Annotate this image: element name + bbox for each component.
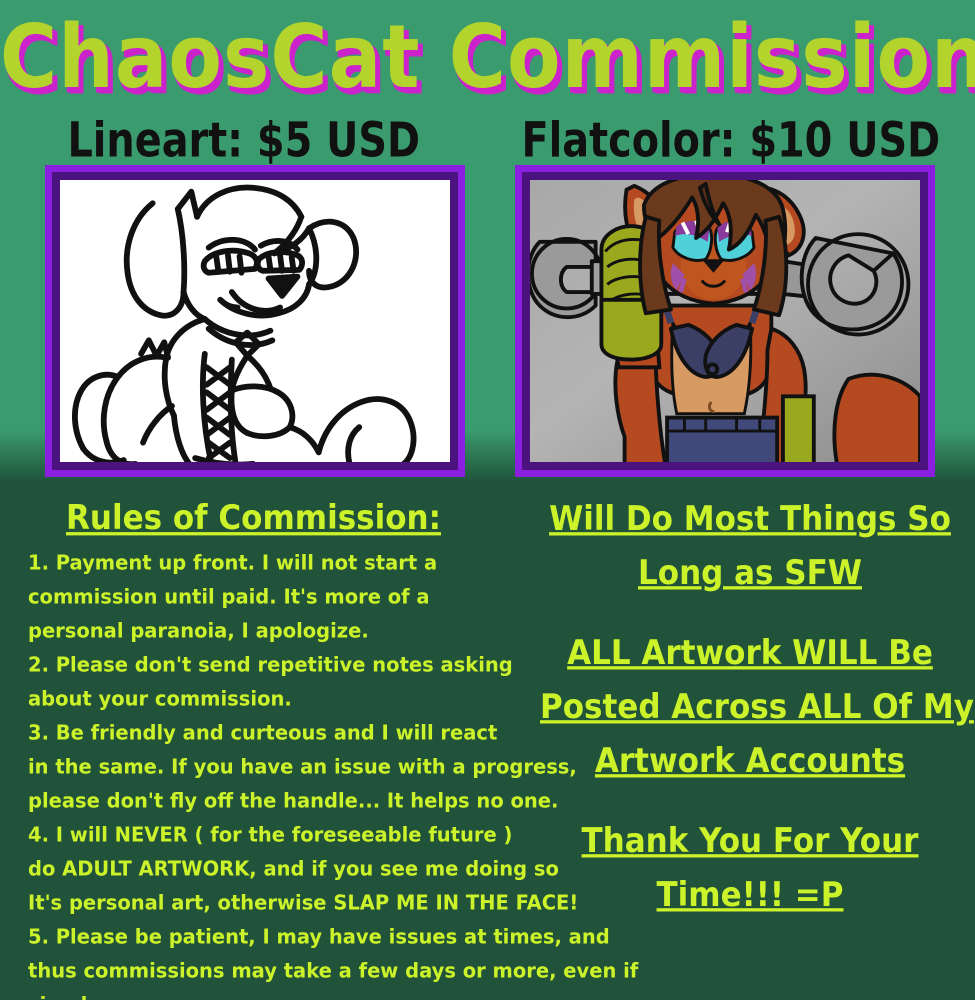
- rule-line: do ADULT ARTWORK, and if you see me doin…: [28, 851, 628, 887]
- notice-block-thanks: Thank You For Your Time!!! =P: [540, 814, 960, 922]
- flatcolor-fox-illustration: [530, 180, 920, 462]
- rule-line: It's personal art, otherwise SLAP ME IN …: [28, 885, 628, 921]
- price-header-row: Lineart: $5 USD Flatcolor: $10 USD: [0, 116, 975, 164]
- rule-line: 4. I will NEVER ( for the foreseeable fu…: [28, 817, 628, 853]
- notice-block-sfw: Will Do Most Things So Long as SFW: [540, 492, 960, 600]
- rules-body: 1. Payment up front. I will not start a …: [28, 545, 628, 1000]
- rule-line: personal paranoia, I apologize.: [28, 613, 628, 649]
- rule-line: in the same. If you have an issue with a…: [28, 749, 628, 785]
- price-label-flatcolor: Flatcolor: $10 USD: [521, 112, 940, 169]
- price-cell-lineart: Lineart: $5 USD: [0, 116, 487, 164]
- price-cell-flatcolor: Flatcolor: $10 USD: [487, 116, 974, 164]
- rule-line: 3. Be friendly and curteous and I will r…: [28, 715, 628, 751]
- notice-block-posting: ALL Artwork WILL Be Posted Across ALL Of…: [540, 626, 960, 788]
- rule-line: simple...: [28, 987, 628, 1000]
- artwork-frame-inner-lineart: [52, 172, 458, 470]
- notice-line: Will Do Most Things So: [540, 489, 960, 548]
- notice-line: ALL Artwork WILL Be: [540, 623, 960, 682]
- lineart-dog-illustration: [60, 180, 450, 462]
- page-title: ChaosCat Commissions: [0, 14, 975, 101]
- price-label-lineart: Lineart: $5 USD: [67, 112, 420, 169]
- rule-line: please don't fly off the handle... It he…: [28, 783, 628, 819]
- rule-line: about your commission.: [28, 681, 628, 717]
- notice-line: Thank You For Your: [540, 811, 960, 870]
- commission-poster: ChaosCat Commissions Lineart: $5 USD Fla…: [0, 0, 975, 1000]
- notice-line: Artwork Accounts: [540, 731, 960, 790]
- rule-line: 1. Payment up front. I will not start a: [28, 545, 628, 581]
- notice-line: Long as SFW: [540, 543, 960, 602]
- artwork-frame-flatcolor: [515, 165, 935, 477]
- notice-line: Posted Across ALL Of My: [540, 677, 960, 736]
- notice-line: Time!!! =P: [540, 865, 960, 924]
- rule-line: 5. Please be patient, I may have issues …: [28, 919, 628, 955]
- artwork-canvas-lineart: [60, 180, 450, 462]
- rules-column: Rules of Commission: 1. Payment up front…: [28, 498, 628, 1000]
- artwork-canvas-flatcolor: [530, 180, 920, 462]
- artwork-frame-inner-flatcolor: [522, 172, 928, 470]
- notices-column: Will Do Most Things So Long as SFW ALL A…: [540, 492, 960, 948]
- poster-title-wrap: ChaosCat Commissions: [0, 14, 975, 92]
- rule-line: 2. Please don't send repetitive notes as…: [28, 647, 628, 683]
- rule-line: thus commissions may take a few days or …: [28, 953, 628, 989]
- rules-heading: Rules of Commission:: [66, 498, 441, 538]
- rule-line: commission until paid. It's more of a: [28, 579, 628, 615]
- artwork-frame-lineart: [45, 165, 465, 477]
